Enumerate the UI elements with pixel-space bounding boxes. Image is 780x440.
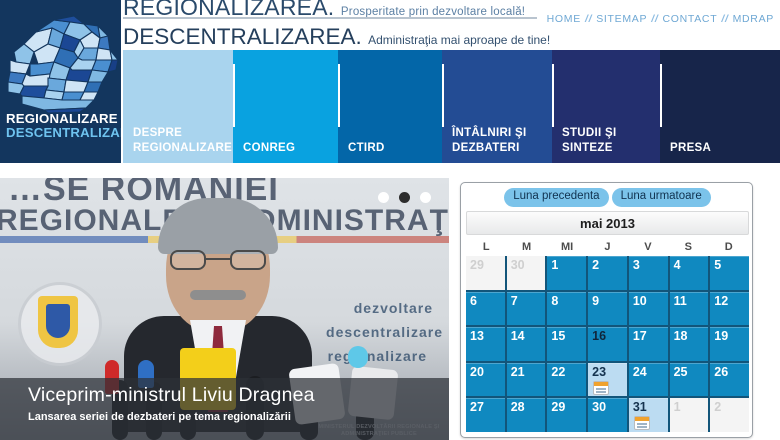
calendar-day-number: 18: [674, 329, 688, 343]
next-month-button[interactable]: Luna urmatoare: [612, 188, 711, 207]
calendar-day-outside: 1: [670, 398, 709, 432]
calendar-day-cell[interactable]: 1: [547, 256, 586, 290]
calendar-day-cell[interactable]: 3: [629, 256, 668, 290]
calendar-day-number: 29: [551, 400, 565, 414]
calendar-day-cell[interactable]: 4: [670, 256, 709, 290]
calendar-day-number: 25: [674, 365, 688, 379]
backdrop-word-regionalizare: regionalizare: [328, 348, 427, 364]
event-calendar-icon[interactable]: [634, 416, 650, 430]
calendar-day-number: 8: [551, 294, 558, 308]
nav-item-label: PRESA: [670, 141, 711, 155]
backdrop-word-descentralizare: descentralizare: [326, 324, 443, 340]
calendar-day-cell[interactable]: 20: [466, 363, 505, 397]
calendar-day-number: 3: [633, 258, 640, 272]
calendar-weekday-j: J: [587, 237, 627, 256]
nav-item-conreg[interactable]: CONREG: [233, 50, 338, 163]
coat-of-arms-icon: [38, 296, 78, 348]
calendar-weekday-v: V: [628, 237, 668, 256]
slide-caption: Viceprim-ministrul Liviu Dragnea Lansare…: [0, 378, 449, 440]
calendar-day-cell[interactable]: 14: [507, 327, 546, 361]
nav-separator-tick: [552, 64, 554, 127]
calendar-day-cell[interactable]: 28: [507, 398, 546, 432]
slogan-descentralizarea: DESCENTRALIZAREA. Administraţia mai apro…: [123, 24, 550, 50]
calendar-day-number: 17: [633, 329, 647, 343]
slogan-2-main: DESCENTRALIZAREA.: [123, 24, 362, 49]
calendar-weekday-d: D: [709, 237, 749, 256]
featured-slider[interactable]: …SE ROMÂNIEI REGIONALE ŞI ADMINISTRAŢ de…: [0, 178, 449, 440]
slider-dot-slide-2[interactable]: [399, 192, 410, 203]
events-calendar: Luna precedenta Luna urmatoare mai 2013 …: [460, 182, 753, 438]
prev-month-button[interactable]: Luna precedenta: [504, 188, 608, 207]
calendar-day-number: 9: [592, 294, 599, 308]
calendar-day-cell[interactable]: 5: [710, 256, 749, 290]
calendar-day-number: 19: [714, 329, 728, 343]
calendar-day-number: 2: [592, 258, 599, 272]
calendar-day-cell[interactable]: 11: [670, 292, 709, 326]
calendar-day-cell[interactable]: 25: [670, 363, 709, 397]
nav-item-despre-regionalizare[interactable]: DESPRE REGIONALIZARE: [123, 50, 233, 163]
calendar-day-number: 20: [470, 365, 484, 379]
toplink-sitemap[interactable]: SITEMAP: [596, 13, 647, 25]
microphone-cyan: [348, 346, 368, 368]
calendar-day-number: 26: [714, 365, 728, 379]
top-nav-links: HOME//SITEMAP//CONTACT//MDRAP: [547, 13, 774, 25]
toplink-home[interactable]: HOME: [547, 13, 581, 25]
calendar-day-number: 1: [551, 258, 558, 272]
slide-caption-subtitle: Lansarea seriei de dezbateri pe tema reg…: [28, 411, 291, 423]
calendar-day-cell[interactable]: 10: [629, 292, 668, 326]
slide-caption-title: Viceprim-ministrul Liviu Dragnea: [28, 384, 315, 407]
nav-item-ctird[interactable]: CTIRD: [338, 50, 442, 163]
calendar-day-number: 29: [470, 258, 484, 272]
calendar-day-number: 27: [470, 400, 484, 414]
calendar-day-cell[interactable]: 13: [466, 327, 505, 361]
slider-dot-slide-1[interactable]: [378, 192, 389, 203]
calendar-weekday-l: L: [466, 237, 506, 256]
calendar-month-title: mai 2013: [580, 216, 635, 231]
nav-item-label: CTIRD: [348, 141, 385, 155]
calendar-day-cell[interactable]: 18: [670, 327, 709, 361]
calendar-day-outside: 2: [710, 398, 749, 432]
slogan-2-sub: Administraţia mai aproape de tine!: [368, 33, 550, 47]
nav-separator-tick: [233, 64, 235, 127]
moustache-shape: [190, 290, 246, 300]
toplink-separator: //: [585, 13, 592, 25]
calendar-day-number: 5: [714, 258, 721, 272]
hair-shape: [158, 198, 278, 254]
calendar-day-number: 1: [674, 400, 681, 414]
page-root: REGIONALIZARE DESCENTRALIZARE REGIONALIZ…: [0, 0, 780, 440]
logo-line-1: REGIONALIZARE: [6, 112, 116, 126]
slider-dots: [378, 192, 431, 203]
calendar-day-cell[interactable]: 31: [629, 398, 668, 432]
calendar-day-cell[interactable]: 21: [507, 363, 546, 397]
calendar-day-cell[interactable]: 9: [588, 292, 627, 326]
calendar-day-cell[interactable]: 22: [547, 363, 586, 397]
calendar-day-outside: 29: [466, 256, 505, 290]
calendar-day-number: 6: [470, 294, 477, 308]
calendar-day-number: 14: [511, 329, 525, 343]
calendar-day-cell[interactable]: 29: [547, 398, 586, 432]
calendar-weekday-mi: MI: [547, 237, 587, 256]
calendar-weekday-header: LMMIJVSD: [466, 237, 749, 256]
nav-item-label: ÎNTÂLNIRI ŞI DEZBATERI: [452, 126, 527, 155]
calendar-day-number: 16: [592, 329, 606, 343]
toplink-separator: //: [721, 13, 728, 25]
glasses-icon: [168, 250, 268, 270]
nav-separator-tick: [442, 64, 444, 127]
calendar-nav: Luna precedenta Luna urmatoare: [461, 188, 753, 207]
nav-item-studii-i-sinteze[interactable]: STUDII ŞI SINTEZE: [552, 50, 660, 163]
calendar-day-cell[interactable]: 2: [588, 256, 627, 290]
calendar-day-cell[interactable]: 23: [588, 363, 627, 397]
calendar-day-number: 13: [470, 329, 484, 343]
calendar-day-cell[interactable]: 30: [588, 398, 627, 432]
calendar-day-number: 22: [551, 365, 565, 379]
calendar-day-number: 28: [511, 400, 525, 414]
calendar-day-number: 24: [633, 365, 647, 379]
nav-item-nt-lniri-i-dezbateri[interactable]: ÎNTÂLNIRI ŞI DEZBATERI: [442, 50, 552, 163]
calendar-day-number: 15: [551, 329, 565, 343]
calendar-day-number: 11: [674, 294, 687, 308]
calendar-day-number: 30: [511, 258, 525, 272]
nav-separator-tick: [660, 64, 662, 127]
calendar-weekday-m: M: [506, 237, 546, 256]
nav-item-label: DESPRE REGIONALIZARE: [133, 126, 232, 155]
main-navigation: DESPRE REGIONALIZARECONREGCTIRDÎNTÂLNIRI…: [123, 50, 780, 163]
calendar-day-cell[interactable]: 15: [547, 327, 586, 361]
calendar-day-cell[interactable]: 16: [588, 327, 627, 361]
calendar-day-number: 12: [714, 294, 728, 308]
calendar-day-cell[interactable]: 12: [710, 292, 749, 326]
calendar-day-number: 30: [592, 400, 606, 414]
calendar-day-number: 4: [674, 258, 681, 272]
romania-map-icon: [0, 2, 121, 114]
calendar-day-cell[interactable]: 6: [466, 292, 505, 326]
site-logo[interactable]: REGIONALIZARE DESCENTRALIZARE: [0, 0, 121, 163]
calendar-day-number: 2: [714, 400, 721, 414]
calendar-day-cell[interactable]: 17: [629, 327, 668, 361]
header-divider: [123, 17, 537, 19]
calendar-day-number: 21: [511, 365, 525, 379]
toplink-contact[interactable]: CONTACT: [662, 13, 717, 25]
nav-separator-tick: [338, 64, 340, 127]
calendar-day-outside: 30: [507, 256, 546, 290]
toplink-mdrap[interactable]: MDRAP: [733, 13, 774, 25]
calendar-day-number: 7: [511, 294, 518, 308]
calendar-day-grid: 2930123456789101112131415161718192021222…: [466, 256, 749, 432]
site-header: REGIONALIZARE DESCENTRALIZARE REGIONALIZ…: [0, 0, 780, 170]
calendar-day-cell[interactable]: 8: [547, 292, 586, 326]
calendar-day-cell[interactable]: 24: [629, 363, 668, 397]
calendar-day-cell[interactable]: 7: [507, 292, 546, 326]
calendar-title-bar: mai 2013: [466, 211, 749, 235]
calendar-day-cell[interactable]: 26: [710, 363, 749, 397]
nav-item-presa[interactable]: PRESA: [660, 50, 780, 163]
calendar-day-cell[interactable]: 19: [710, 327, 749, 361]
calendar-day-cell[interactable]: 27: [466, 398, 505, 432]
event-calendar-icon[interactable]: [593, 381, 609, 395]
nav-item-label: STUDII ŞI SINTEZE: [562, 126, 616, 155]
logo-line-2: DESCENTRALIZARE: [6, 126, 116, 140]
calendar-day-number: 10: [633, 294, 647, 308]
logo-caption: REGIONALIZARE DESCENTRALIZARE: [6, 112, 116, 140]
backdrop-word-dezvoltare: dezvoltare: [354, 300, 433, 316]
calendar-day-number: 31: [633, 400, 647, 414]
toplink-separator: //: [651, 13, 658, 25]
nav-item-label: CONREG: [243, 141, 295, 155]
calendar-weekday-s: S: [668, 237, 708, 256]
slider-dot-slide-3[interactable]: [420, 192, 431, 203]
calendar-day-number: 23: [592, 365, 606, 379]
